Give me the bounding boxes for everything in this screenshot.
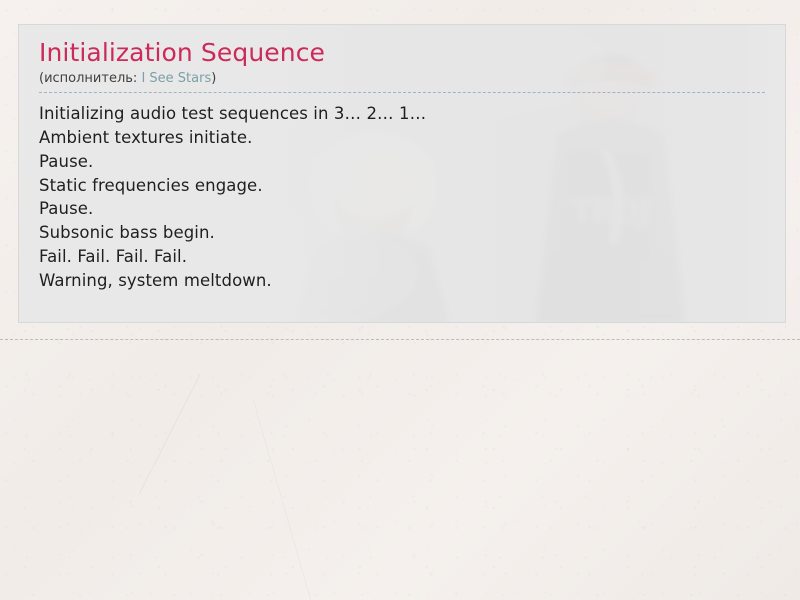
subtitle-suffix-label: ) bbox=[211, 71, 216, 86]
lyric-line: Ambient textures initiate. bbox=[39, 126, 765, 150]
artist-subtitle: (исполнитель: I See Stars) bbox=[39, 71, 765, 87]
lyric-line: Warning, system meltdown. bbox=[39, 269, 765, 293]
artist-link[interactable]: I See Stars bbox=[141, 71, 211, 86]
page-title: Initialization Sequence bbox=[39, 39, 765, 67]
lyric-line: Fail. Fail. Fail. Fail. bbox=[39, 245, 765, 269]
lyrics-body: Initializing audio test sequences in 3… … bbox=[39, 102, 765, 292]
subtitle-prefix-label: (исполнитель: bbox=[39, 71, 141, 86]
lyric-line: Subsonic bass begin. bbox=[39, 221, 765, 245]
lyric-line: Pause. bbox=[39, 150, 765, 174]
lyric-line: Pause. bbox=[39, 197, 765, 221]
page-horizontal-divider bbox=[0, 339, 800, 340]
lyric-line: Initializing audio test sequences in 3… … bbox=[39, 102, 765, 126]
header-divider bbox=[39, 92, 765, 93]
lyric-line: Static frequencies engage. bbox=[39, 174, 765, 198]
lyrics-slide-card: TROJ Initialization Sequence (исполнител… bbox=[18, 24, 786, 323]
